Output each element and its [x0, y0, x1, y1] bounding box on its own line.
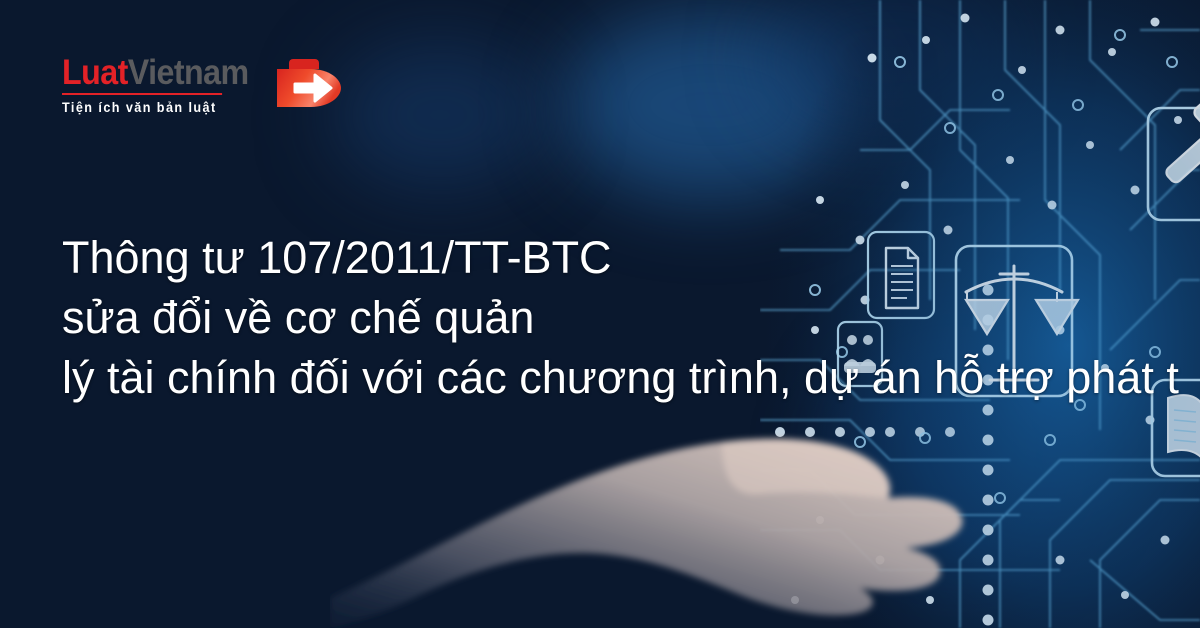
- logo-underline: [62, 93, 222, 95]
- headline: Thông tư 107/2011/TT-BTC sửa đổi về cơ c…: [62, 228, 1200, 408]
- headline-line-1: Thông tư 107/2011/TT-BTC: [62, 228, 1200, 288]
- luatvietnam-logo[interactable]: LuatVietnam Tiện ích văn bản luật: [62, 55, 345, 119]
- banner: LuatVietnam Tiện ích văn bản luật: [0, 0, 1200, 628]
- logo-tagline: Tiện ích văn bản luật: [62, 99, 245, 115]
- background-glow-b: [330, 40, 550, 190]
- logo-word-secondary: Vietnam: [128, 53, 249, 92]
- headline-line-3: lý tài chính đối với các chương trình, d…: [62, 348, 1200, 408]
- logo-word-primary: Luat: [62, 53, 128, 92]
- logo-text-block: LuatVietnam Tiện ích văn bản luật: [62, 55, 265, 115]
- logo-wordmark: LuatVietnam: [62, 55, 249, 90]
- headline-line-2: sửa đổi về cơ chế quản: [62, 288, 1200, 348]
- folder-arrow-right-icon: [273, 57, 345, 119]
